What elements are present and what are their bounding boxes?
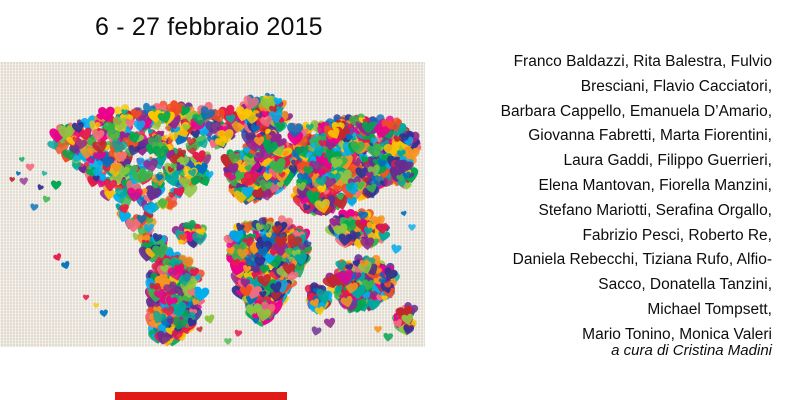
artist-line: Daniela Rebecchi, Tiziana Rufo, Alfio- xyxy=(440,248,772,273)
world-map-hearts-image xyxy=(0,62,425,347)
artist-line: Sacco, Donatella Tanzini, xyxy=(440,273,772,298)
artist-line: Bresciani, Flavio Cacciatori, xyxy=(440,75,772,100)
heart-cluster-group xyxy=(9,92,423,347)
artist-line: Barbara Cappello, Emanuela D’Amario, xyxy=(440,100,772,125)
heart-map-svg xyxy=(0,62,425,347)
artist-line: Fabrizio Pesci, Roberto Re, xyxy=(440,224,772,249)
curator-credit: a cura di Cristina Madini xyxy=(440,340,772,362)
artist-name-list: Franco Baldazzi, Rita Balestra, FulvioBr… xyxy=(440,50,772,348)
artist-line: Stefano Mariotti, Serafina Orgallo, xyxy=(440,199,772,224)
red-accent-bar xyxy=(115,392,287,400)
page-title: 6 - 27 febbraio 2015 xyxy=(95,11,323,43)
artist-line: Michael Tompsett, xyxy=(440,298,772,323)
artist-line: Franco Baldazzi, Rita Balestra, Fulvio xyxy=(440,50,772,75)
artist-line: Laura Gaddi, Filippo Guerrieri, xyxy=(440,149,772,174)
artist-line: Giovanna Fabretti, Marta Fiorentini, xyxy=(440,124,772,149)
artist-line: Elena Mantovan, Fiorella Manzini, xyxy=(440,174,772,199)
